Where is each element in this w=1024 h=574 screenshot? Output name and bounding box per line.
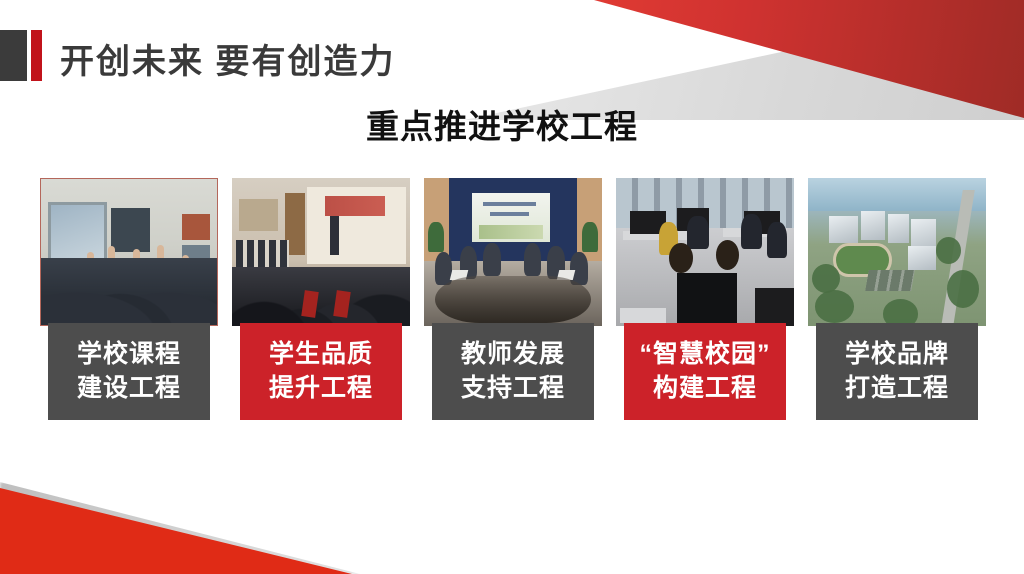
teacher-meeting-projector-photo <box>424 178 602 326</box>
project-card[interactable]: “智慧校园” 构建工程 <box>616 178 794 428</box>
card-caption: 学生品质 提升工程 <box>240 323 402 420</box>
page-title-text: 重点推进学校工程 <box>366 100 638 148</box>
card-caption-line-1: 学生品质 <box>269 338 373 371</box>
card-caption-line-2: 打造工程 <box>845 372 949 405</box>
project-card[interactable]: 学生品质 提升工程 <box>232 178 410 428</box>
presentation-slide: 开创未来 要有创造力 重点推进学校工程 学校课程 <box>0 0 1024 574</box>
stage-performance-assembly-photo <box>232 178 410 326</box>
card-caption: 学校品牌 打造工程 <box>816 323 978 420</box>
project-card[interactable]: 学校品牌 打造工程 <box>808 178 986 428</box>
card-caption-line-1: 教师发展 <box>461 338 565 371</box>
card-caption: 教师发展 支持工程 <box>432 323 594 420</box>
project-card[interactable]: 教师发展 支持工程 <box>424 178 602 428</box>
card-caption: 学校课程 建设工程 <box>48 323 210 420</box>
card-caption-line-2: 提升工程 <box>269 372 373 405</box>
computer-lab-students-photo <box>616 178 794 326</box>
card-caption-line-1: 学校品牌 <box>845 338 949 371</box>
card-caption: “智慧校园” 构建工程 <box>624 323 786 420</box>
classroom-students-raising-hands-photo <box>40 178 218 326</box>
project-card[interactable]: 学校课程 建设工程 <box>40 178 218 428</box>
campus-aerial-rendering-photo <box>808 178 986 326</box>
card-caption-line-1: “智慧校园” <box>639 338 770 371</box>
project-card-row: 学校课程 建设工程 学生品质 提升工程 <box>40 178 988 428</box>
page-title: 重点推进学校工程 <box>0 100 1024 148</box>
card-caption-line-2: 建设工程 <box>77 372 181 405</box>
card-caption-line-2: 支持工程 <box>461 372 565 405</box>
card-caption-line-2: 构建工程 <box>653 372 757 405</box>
card-caption-line-1: 学校课程 <box>77 338 181 371</box>
header-gray-block-icon <box>0 30 27 81</box>
header-title: 开创未来 要有创造力 <box>60 34 395 83</box>
header-red-bar-icon <box>31 30 42 81</box>
